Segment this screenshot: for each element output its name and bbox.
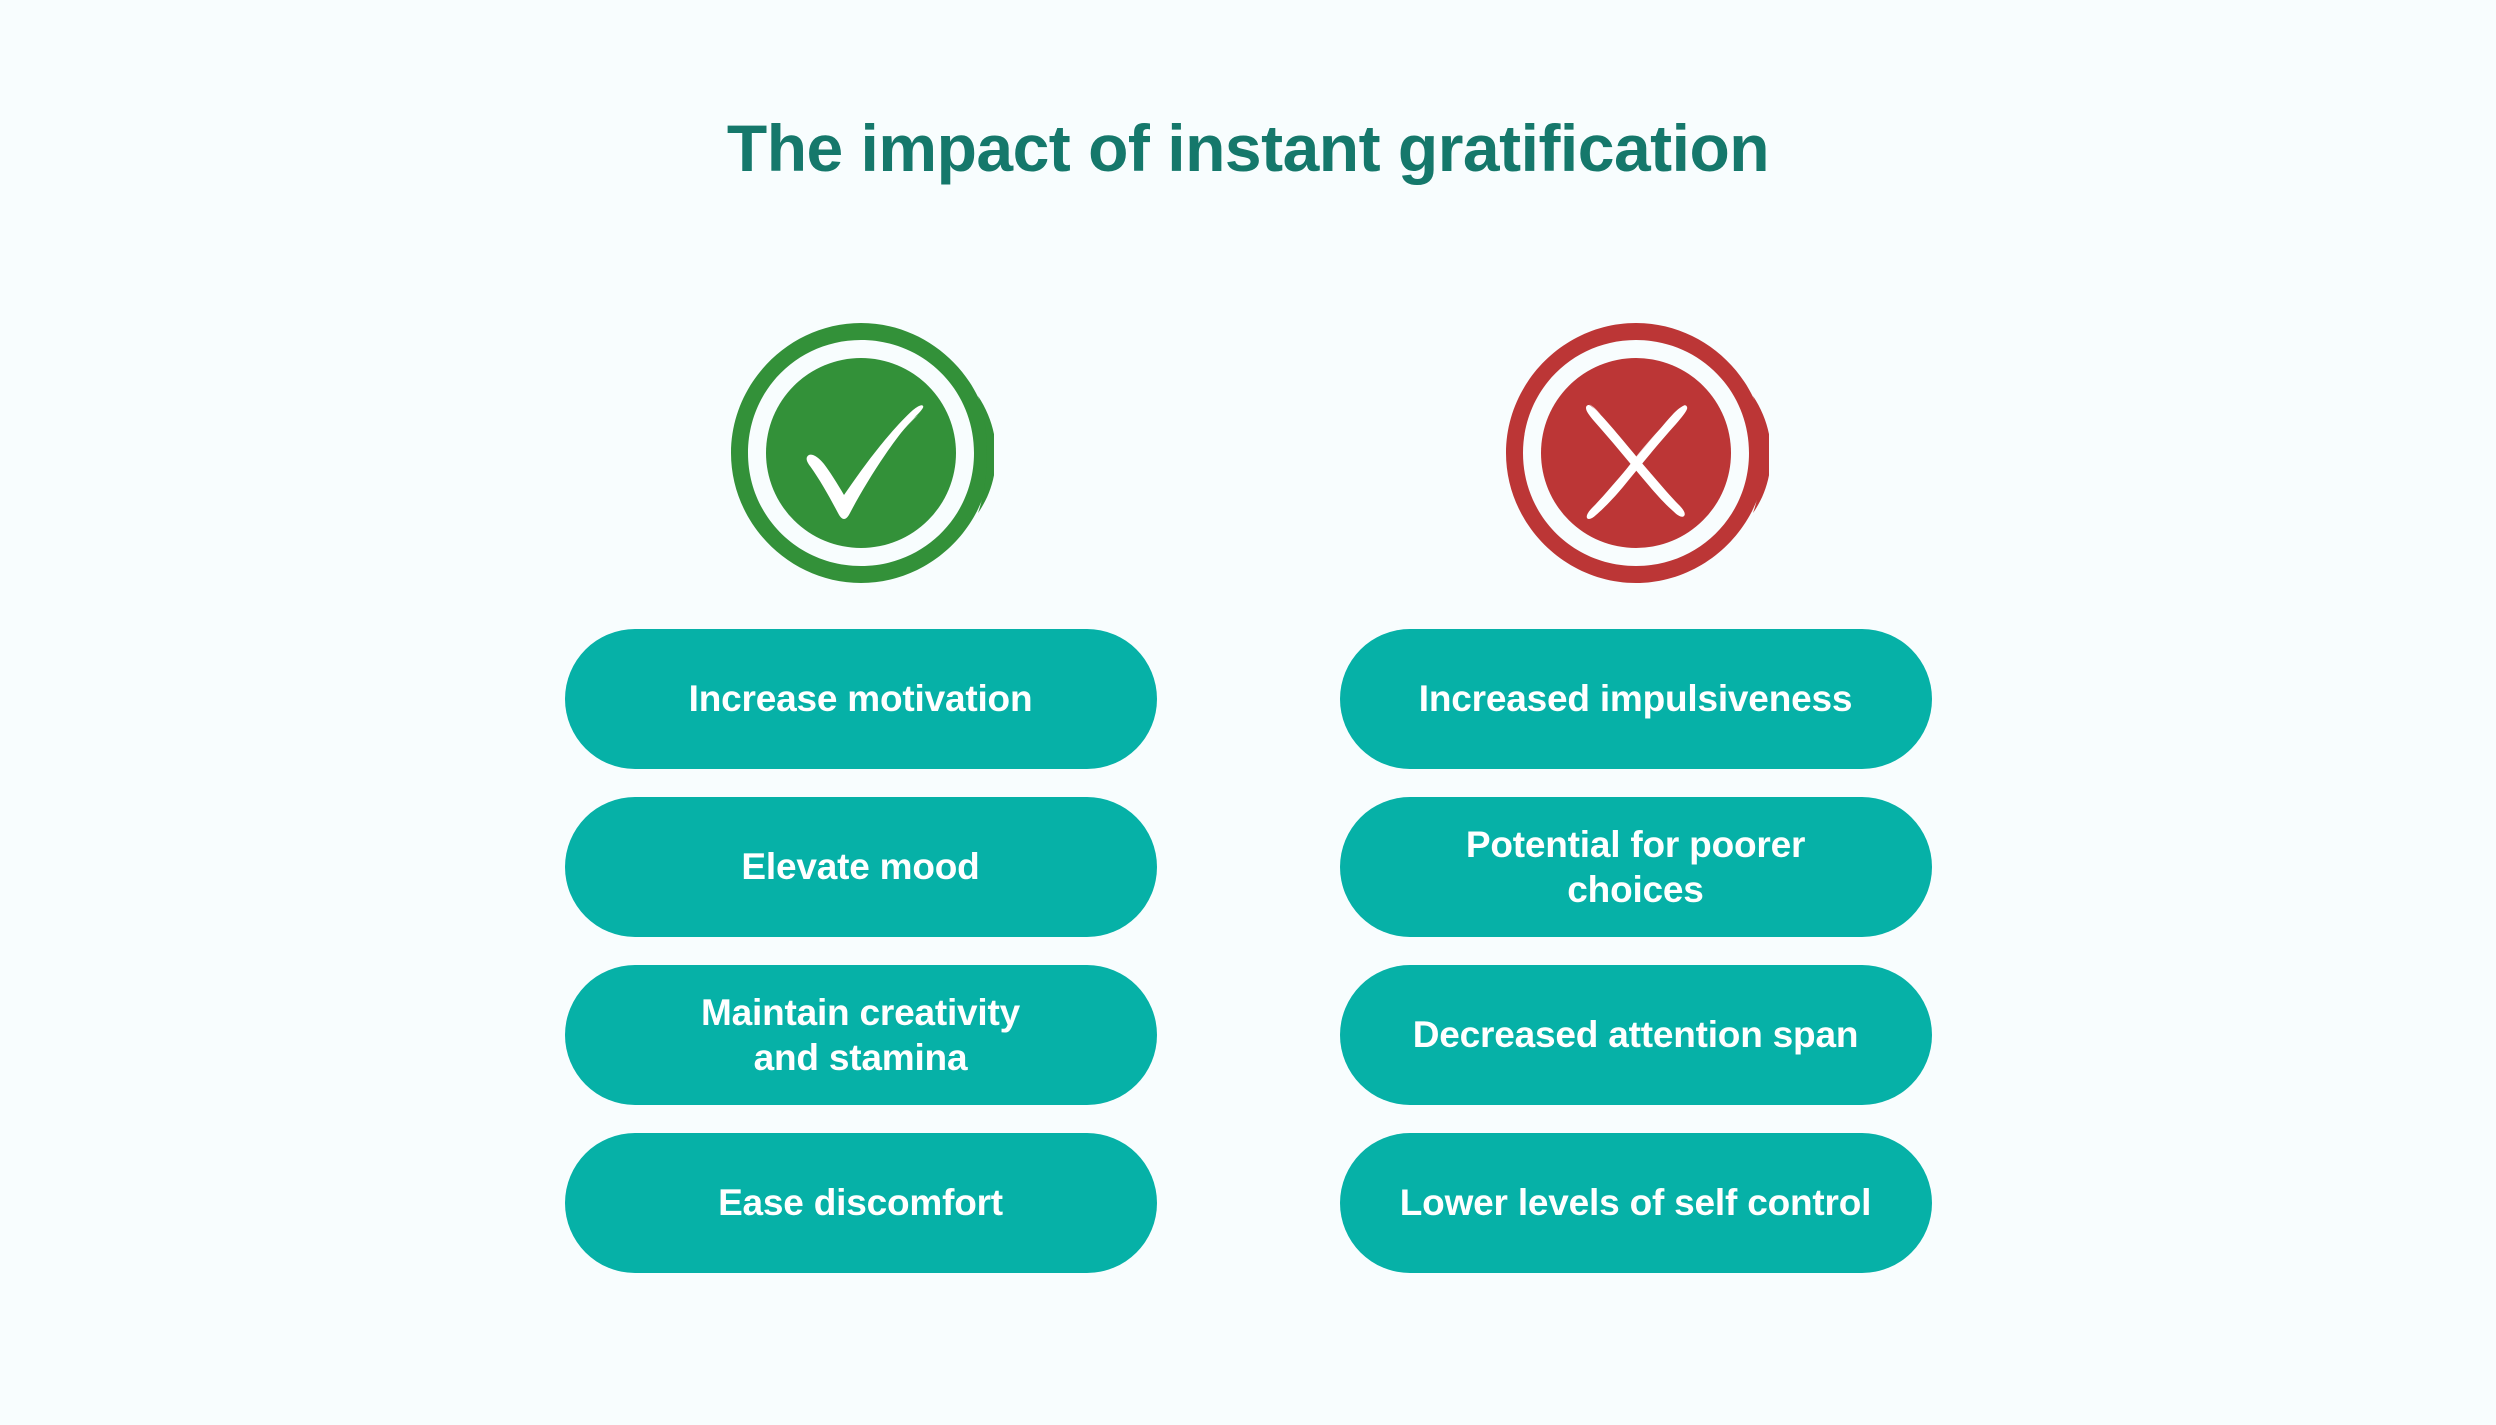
list-item[interactable]: Increase motivation: [565, 629, 1157, 769]
cross-circle-brush-icon: [1503, 320, 1769, 586]
pill-label: Ease discomfort: [718, 1180, 1003, 1225]
pill-list-positive: Increase motivation Elevate mood Maintai…: [565, 629, 1157, 1273]
column-positive: Increase motivation Elevate mood Maintai…: [565, 320, 1157, 1273]
list-item[interactable]: Increased impulsiveness: [1340, 629, 1932, 769]
pill-label: Lower levels of self control: [1400, 1180, 1871, 1225]
list-item[interactable]: Lower levels of self control: [1340, 1133, 1932, 1273]
columns-container: Increase motivation Elevate mood Maintai…: [0, 320, 2496, 1273]
page-title: The impact of instant gratification: [0, 112, 2496, 185]
list-item[interactable]: Elevate mood: [565, 797, 1157, 937]
pill-label: Decreased attention span: [1413, 1012, 1859, 1057]
pill-label: Potential for poorer choices: [1466, 822, 1805, 912]
pill-label: Elevate mood: [741, 844, 979, 889]
list-item[interactable]: Maintain creativity and stamina: [565, 965, 1157, 1105]
column-negative: Increased impulsiveness Potential for po…: [1340, 320, 1932, 1273]
pill-label: Increase motivation: [689, 676, 1033, 721]
pill-label: Maintain creativity and stamina: [701, 990, 1020, 1080]
check-circle-brush-icon: [728, 320, 994, 586]
infographic-root: The impact of instant gratification: [0, 0, 2496, 1425]
list-item[interactable]: Ease discomfort: [565, 1133, 1157, 1273]
pill-label: Increased impulsiveness: [1419, 676, 1852, 721]
list-item[interactable]: Decreased attention span: [1340, 965, 1932, 1105]
list-item[interactable]: Potential for poorer choices: [1340, 797, 1932, 937]
pill-list-negative: Increased impulsiveness Potential for po…: [1340, 629, 1932, 1273]
